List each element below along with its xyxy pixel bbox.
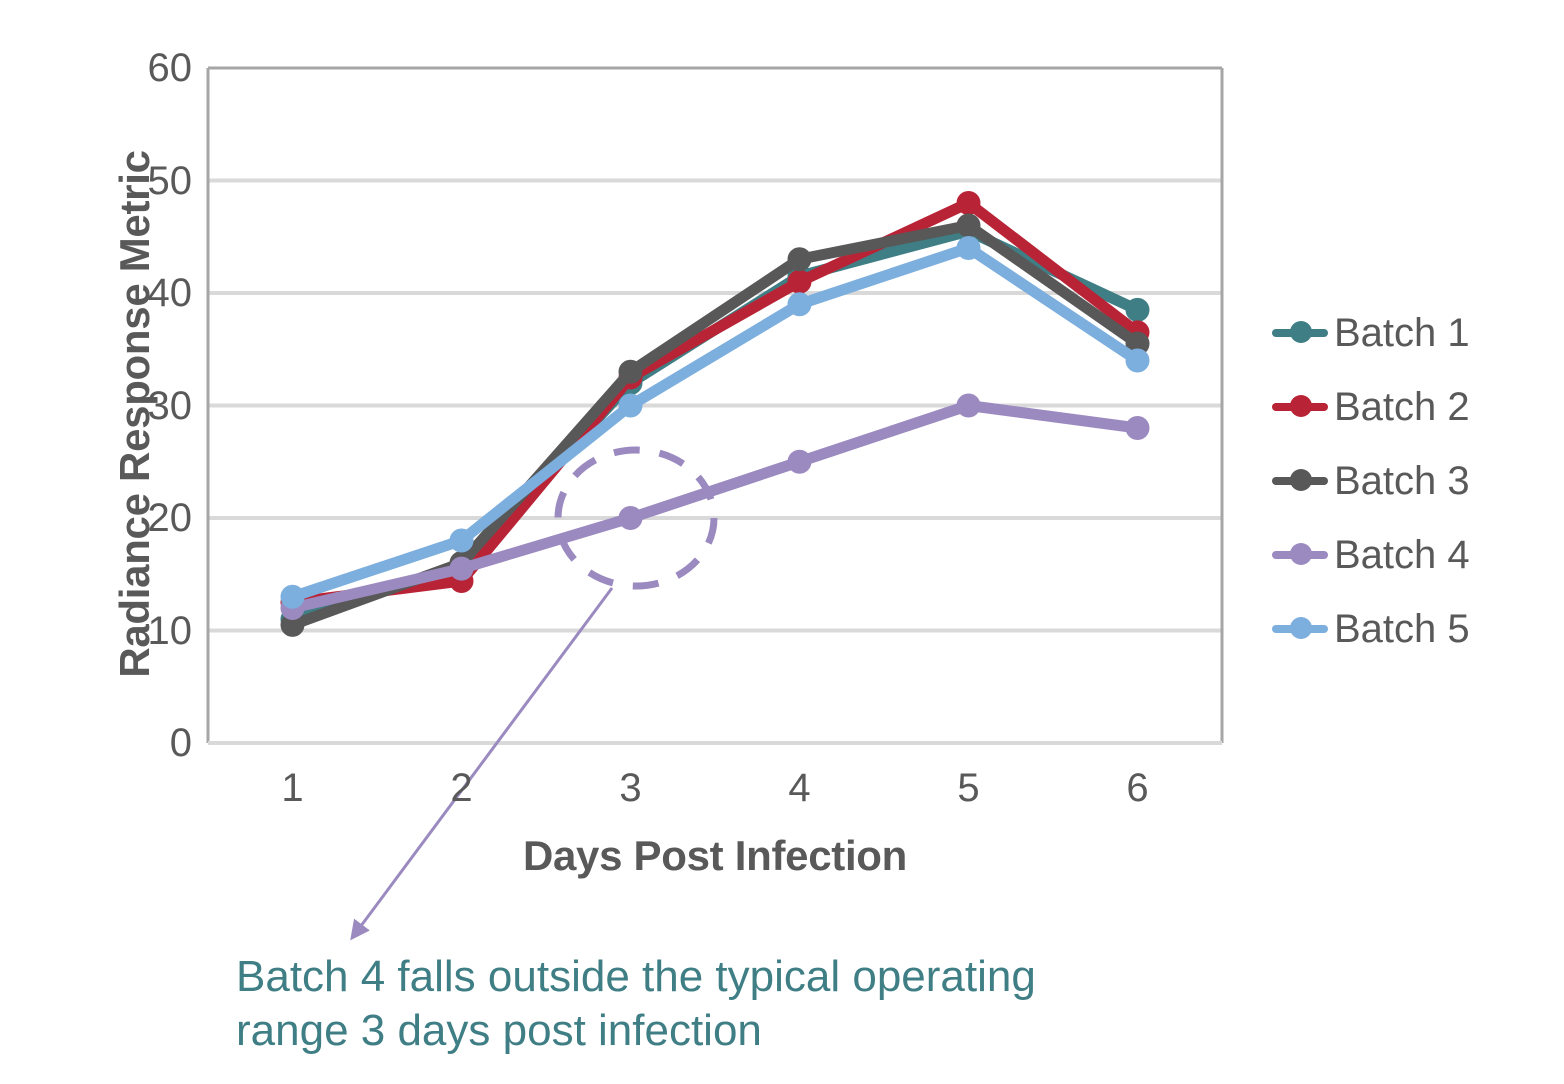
y-tick-label: 40 (112, 273, 192, 313)
annotation-line-1: Batch 4 falls outside the typical operat… (236, 950, 1256, 1004)
data-point (957, 191, 981, 215)
series-line (293, 226, 1138, 625)
y-axis-tick-labels: 0102030405060 (100, 0, 192, 1084)
legend-item-batch-2[interactable]: Batch 2 (1272, 370, 1562, 444)
x-tick-label: 3 (591, 768, 671, 808)
gridlines (208, 181, 1222, 631)
x-tick-label: 2 (422, 768, 502, 808)
chart-figure: Radiance Response Metric 0102030405060 1… (0, 0, 1564, 1084)
legend-label: Batch 5 (1334, 609, 1470, 649)
annotation-line-2: range 3 days post infection (236, 1004, 1256, 1058)
data-point (1126, 416, 1150, 440)
y-tick-label: 10 (112, 611, 192, 651)
data-point (619, 394, 643, 418)
y-tick-label: 20 (112, 498, 192, 538)
data-point (957, 394, 981, 418)
data-point (450, 529, 474, 553)
data-point (957, 214, 981, 238)
data-point (619, 506, 643, 530)
series-layer (281, 191, 1150, 637)
data-point (619, 360, 643, 384)
data-point (788, 247, 812, 271)
series-line (293, 248, 1138, 597)
series-line (293, 406, 1138, 609)
legend-swatch-icon (1272, 540, 1328, 570)
legend-swatch-icon (1272, 466, 1328, 496)
legend-label: Batch 2 (1334, 387, 1470, 427)
x-tick-label: 1 (253, 768, 333, 808)
y-tick-label: 60 (112, 48, 192, 88)
data-point (281, 585, 305, 609)
data-point (788, 292, 812, 316)
data-point (1126, 349, 1150, 373)
data-point (957, 236, 981, 260)
x-axis-title: Days Post Infection (208, 832, 1222, 880)
chart-legend: Batch 1Batch 2Batch 3Batch 4Batch 5 (1272, 296, 1562, 666)
data-point (450, 557, 474, 581)
data-point (1126, 298, 1150, 322)
data-point (788, 270, 812, 294)
x-tick-label: 4 (760, 768, 840, 808)
data-point (788, 450, 812, 474)
legend-label: Batch 4 (1334, 535, 1470, 575)
annotation-text: Batch 4 falls outside the typical operat… (236, 950, 1256, 1057)
y-tick-label: 0 (112, 723, 192, 763)
legend-swatch-icon (1272, 392, 1328, 422)
series-batch-4 (281, 394, 1150, 621)
legend-item-batch-3[interactable]: Batch 3 (1272, 444, 1562, 518)
y-tick-label: 30 (112, 386, 192, 426)
callout-arrow (352, 588, 612, 938)
legend-item-batch-4[interactable]: Batch 4 (1272, 518, 1562, 592)
legend-swatch-icon (1272, 614, 1328, 644)
legend-label: Batch 3 (1334, 461, 1470, 501)
legend-item-batch-5[interactable]: Batch 5 (1272, 592, 1562, 666)
legend-swatch-icon (1272, 318, 1328, 348)
y-tick-label: 50 (112, 161, 192, 201)
x-tick-label: 6 (1098, 768, 1178, 808)
legend-item-batch-1[interactable]: Batch 1 (1272, 296, 1562, 370)
series-line (293, 231, 1138, 619)
legend-label: Batch 1 (1334, 313, 1470, 353)
x-axis-tick-labels: 123456 (208, 768, 1222, 828)
series-line (293, 203, 1138, 602)
x-tick-label: 5 (929, 768, 1009, 808)
